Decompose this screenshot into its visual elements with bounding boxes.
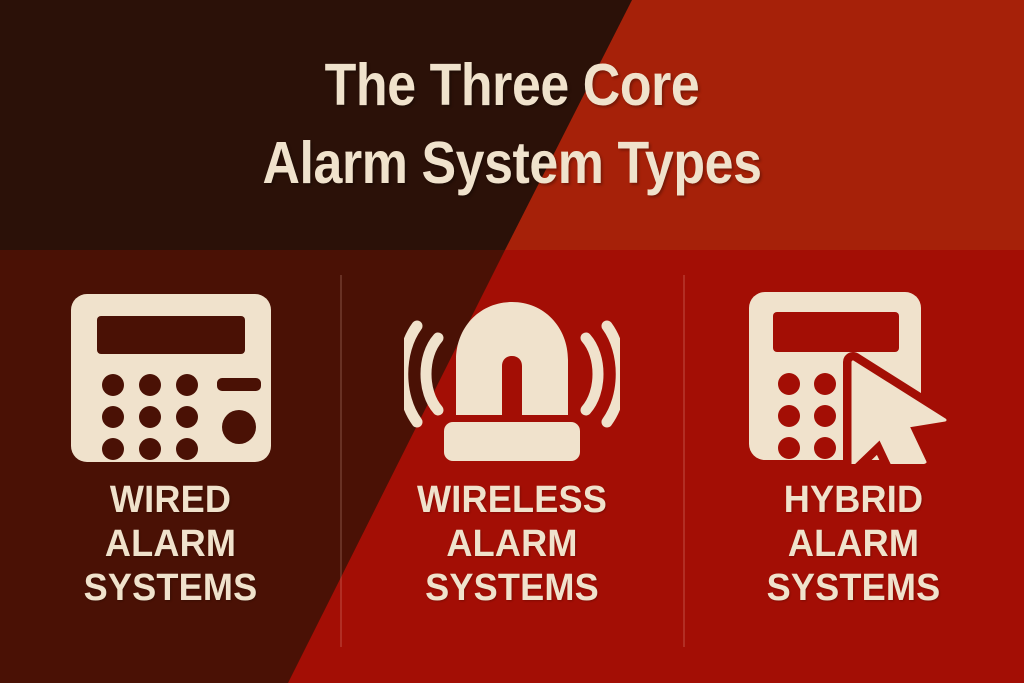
label-line-2: ALARM — [417, 522, 607, 566]
column-wired-alarm-systems: WIRED ALARM SYSTEMS — [0, 250, 341, 683]
label-line-3: SYSTEMS — [766, 566, 940, 610]
label-line-2: ALARM — [84, 522, 258, 566]
column-divider-2 — [683, 275, 685, 647]
title-line-2: Alarm System Types — [61, 124, 962, 202]
siren-icon — [404, 296, 620, 461]
label-line-1: WIRED — [84, 478, 258, 522]
icon-slot-wireless — [404, 292, 620, 464]
infographic-canvas: The Three Core Alarm System Types — [0, 0, 1024, 683]
page-title: The Three Core Alarm System Types — [0, 46, 1024, 202]
label-line-3: SYSTEMS — [84, 566, 258, 610]
label-wireless-alarm-systems: WIRELESS ALARM SYSTEMS — [417, 478, 607, 610]
label-line-2: ALARM — [766, 522, 940, 566]
label-line-1: HYBRID — [766, 478, 940, 522]
label-wired-alarm-systems: WIRED ALARM SYSTEMS — [84, 478, 258, 610]
keypad-cursor-icon — [749, 292, 957, 464]
keypad-icon — [71, 294, 271, 462]
column-divider-1 — [340, 275, 342, 647]
title-line-1: The Three Core — [61, 46, 962, 124]
column-hybrid-alarm-systems: HYBRID ALARM SYSTEMS — [683, 250, 1024, 683]
alarm-type-columns: WIRED ALARM SYSTEMS — [0, 250, 1024, 683]
label-hybrid-alarm-systems: HYBRID ALARM SYSTEMS — [766, 478, 940, 610]
label-line-3: SYSTEMS — [417, 566, 607, 610]
icon-slot-hybrid — [749, 292, 957, 464]
column-wireless-alarm-systems: WIRELESS ALARM SYSTEMS — [341, 250, 682, 683]
icon-slot-wired — [71, 292, 271, 464]
label-line-1: WIRELESS — [417, 478, 607, 522]
